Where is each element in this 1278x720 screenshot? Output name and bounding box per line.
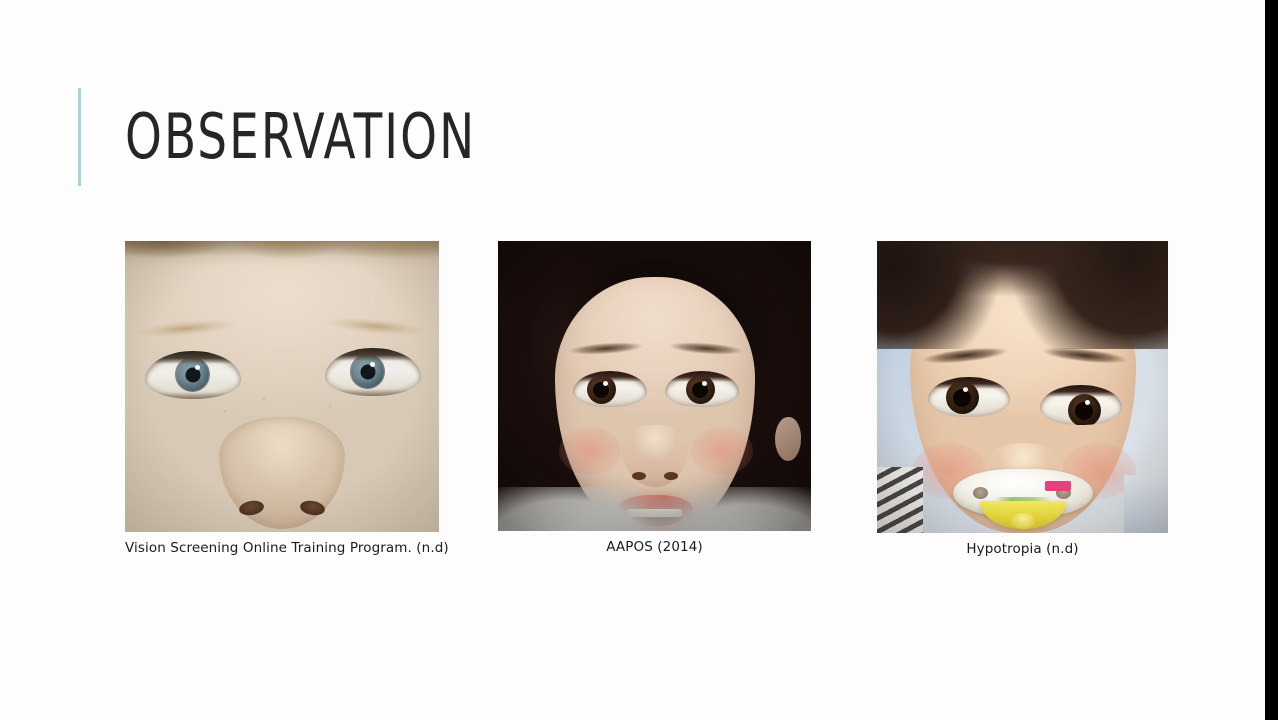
- figure-image-3: [877, 241, 1168, 533]
- figure-infant-hypotropia: Hypotropia (n.d): [877, 241, 1168, 557]
- figure-image-1: [125, 241, 439, 532]
- figure-caption-3: Hypotropia (n.d): [877, 541, 1168, 557]
- slide-title-block: OBSERVATION: [78, 88, 543, 186]
- photo3-vignette: [877, 241, 1168, 533]
- letterbox-bar-right: [1265, 0, 1278, 720]
- photo2-vignette: [498, 241, 811, 531]
- figure-caption-1: Vision Screening Online Training Program…: [125, 540, 449, 556]
- page-title: OBSERVATION: [125, 106, 476, 168]
- slide-canvas: OBSERVATION: [0, 0, 1265, 720]
- figure-strabismus-closeup: Vision Screening Online Training Program…: [125, 241, 449, 556]
- photo1-vignette: [125, 241, 439, 532]
- slide-root: OBSERVATION: [0, 0, 1278, 720]
- figure-image-2: [498, 241, 811, 531]
- figure-caption-2: AAPOS (2014): [498, 539, 811, 555]
- title-accent-bar: [78, 88, 81, 186]
- figure-toddler-exotropia: AAPOS (2014): [498, 241, 811, 555]
